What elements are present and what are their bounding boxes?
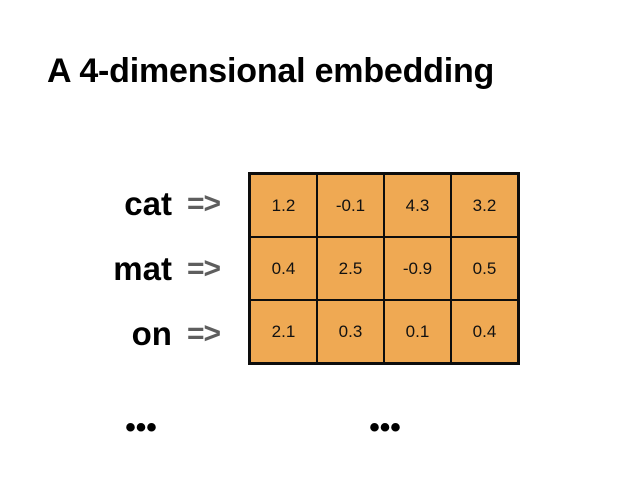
- matrix-cell: -0.9: [384, 237, 451, 300]
- matrix-cell: 0.1: [384, 300, 451, 364]
- row-label-word: cat: [124, 187, 172, 221]
- arrow-icon: =>: [187, 318, 220, 350]
- table-row: 2.1 0.3 0.1 0.4: [250, 300, 519, 364]
- table-row: 0.4 2.5 -0.9 0.5: [250, 237, 519, 300]
- table-row: 1.2 -0.1 4.3 3.2: [250, 174, 519, 238]
- arrow-icon: =>: [187, 188, 220, 220]
- ellipsis-right: •••: [369, 418, 401, 438]
- row-label-word: on: [132, 317, 172, 351]
- matrix-cell: 2.1: [250, 300, 318, 364]
- matrix-cell: 1.2: [250, 174, 318, 238]
- row-label-mat: mat =>: [0, 237, 228, 301]
- row-label-on: on =>: [0, 302, 228, 366]
- row-label-word: mat: [113, 252, 172, 286]
- row-label-cat: cat =>: [0, 172, 228, 236]
- matrix-cell: 0.3: [317, 300, 384, 364]
- matrix-cell: 2.5: [317, 237, 384, 300]
- embedding-matrix-table: 1.2 -0.1 4.3 3.2 0.4 2.5 -0.9 0.5 2.1 0.…: [248, 172, 520, 365]
- matrix-cell: 4.3: [384, 174, 451, 238]
- page-title: A 4-dimensional embedding: [47, 50, 607, 92]
- matrix-cell: -0.1: [317, 174, 384, 238]
- matrix-cell: 0.4: [451, 300, 519, 364]
- matrix-cell: 0.4: [250, 237, 318, 300]
- matrix-cell: 3.2: [451, 174, 519, 238]
- row-label-column: cat => mat => on =>: [0, 172, 228, 366]
- embedding-diagram: cat => mat => on => 1.2 -0.1 4.3 3.2: [0, 172, 638, 366]
- arrow-icon: =>: [187, 253, 220, 285]
- slide-canvas: A 4-dimensional embedding cat => mat => …: [0, 0, 638, 484]
- matrix-cell: 0.5: [451, 237, 519, 300]
- ellipsis-left: •••: [125, 418, 157, 438]
